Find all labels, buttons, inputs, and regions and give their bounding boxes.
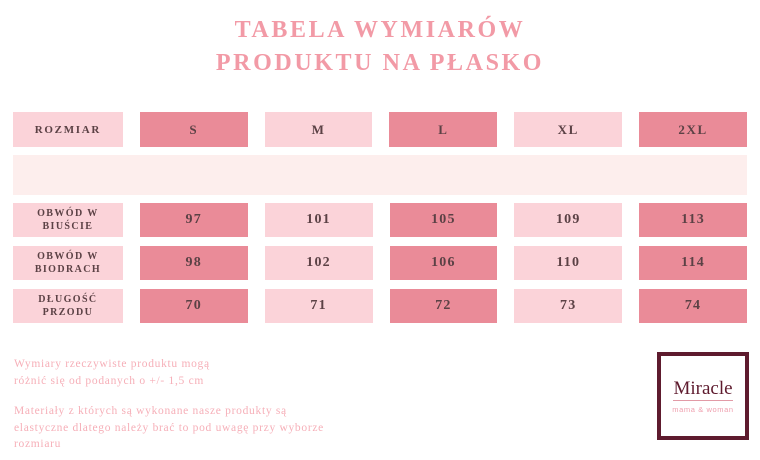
header-cell-size-2xl: 2XL [639, 112, 747, 147]
header-cell-size-xl: XL [514, 112, 622, 147]
brand-name: Miracle [673, 378, 732, 401]
footnote-material-line-2: elastyczne dlatego należy brać to pod uw… [14, 420, 434, 437]
footnote-tolerance-line-2: różnić się od podanych o +/- 1,5 cm [14, 373, 434, 390]
cell-bust-xl: 109 [514, 203, 622, 237]
row-label-front-length: DŁUGOŚĆ PRZODU [13, 289, 123, 323]
table-row: OBWÓD W BIUŚCIE 97 101 105 109 113 [13, 203, 747, 237]
brand-tagline: mama & woman [672, 405, 733, 414]
cell-hips-s: 98 [140, 246, 248, 280]
footnote-material-line-1: Materiały z których są wykonane nasze pr… [14, 403, 434, 420]
cell-hips-m: 102 [265, 246, 373, 280]
cell-front-length-m: 71 [265, 289, 373, 323]
brand-logo: Miracle mama & woman [657, 352, 749, 440]
page-title: TABELA WYMIARÓW PRODUKTU NA PŁASKO [0, 14, 760, 80]
footnote-tolerance: Wymiary rzeczywiste produktu mogą różnić… [14, 356, 434, 389]
header-cell-rozmiar: ROZMIAR [13, 112, 123, 147]
row-label-hips-line-1: OBWÓD W [35, 250, 101, 263]
row-label-hips: OBWÓD W BIODRACH [13, 246, 123, 280]
cell-front-length-l: 72 [390, 289, 498, 323]
measurements-table: ROZMIAR S M L XL 2XL OBWÓD W BIUŚCIE 97 … [13, 112, 747, 332]
cell-front-length-s: 70 [140, 289, 248, 323]
footnote-material-line-3: rozmiaru [14, 436, 434, 453]
footnote-material: Materiały z których są wykonane nasze pr… [14, 403, 434, 453]
table-spacer-band [13, 155, 747, 195]
size-chart-page: TABELA WYMIARÓW PRODUKTU NA PŁASKO ROZMI… [0, 0, 760, 460]
cell-hips-l: 106 [390, 246, 498, 280]
cell-bust-m: 101 [265, 203, 373, 237]
table-header-row: ROZMIAR S M L XL 2XL [13, 112, 747, 147]
table-row: DŁUGOŚĆ PRZODU 70 71 72 73 74 [13, 289, 747, 323]
header-cell-size-s: S [140, 112, 248, 147]
footnote-tolerance-line-1: Wymiary rzeczywiste produktu mogą [14, 356, 434, 373]
table-row: OBWÓD W BIODRACH 98 102 106 110 114 [13, 246, 747, 280]
page-title-line-1: TABELA WYMIARÓW [0, 14, 760, 47]
footnotes: Wymiary rzeczywiste produktu mogą różnić… [14, 356, 434, 453]
cell-bust-s: 97 [140, 203, 248, 237]
row-label-front-length-line-1: DŁUGOŚĆ [38, 293, 97, 306]
row-label-hips-line-2: BIODRACH [35, 263, 101, 276]
cell-hips-2xl: 114 [639, 246, 747, 280]
cell-bust-2xl: 113 [639, 203, 747, 237]
row-label-bust: OBWÓD W BIUŚCIE [13, 203, 123, 237]
header-cell-size-l: L [389, 112, 497, 147]
row-label-front-length-line-2: PRZODU [38, 306, 97, 319]
cell-front-length-2xl: 74 [639, 289, 747, 323]
cell-hips-xl: 110 [514, 246, 622, 280]
cell-front-length-xl: 73 [514, 289, 622, 323]
header-cell-size-m: M [265, 112, 373, 147]
cell-bust-l: 105 [390, 203, 498, 237]
page-title-line-2: PRODUKTU NA PŁASKO [0, 47, 760, 80]
